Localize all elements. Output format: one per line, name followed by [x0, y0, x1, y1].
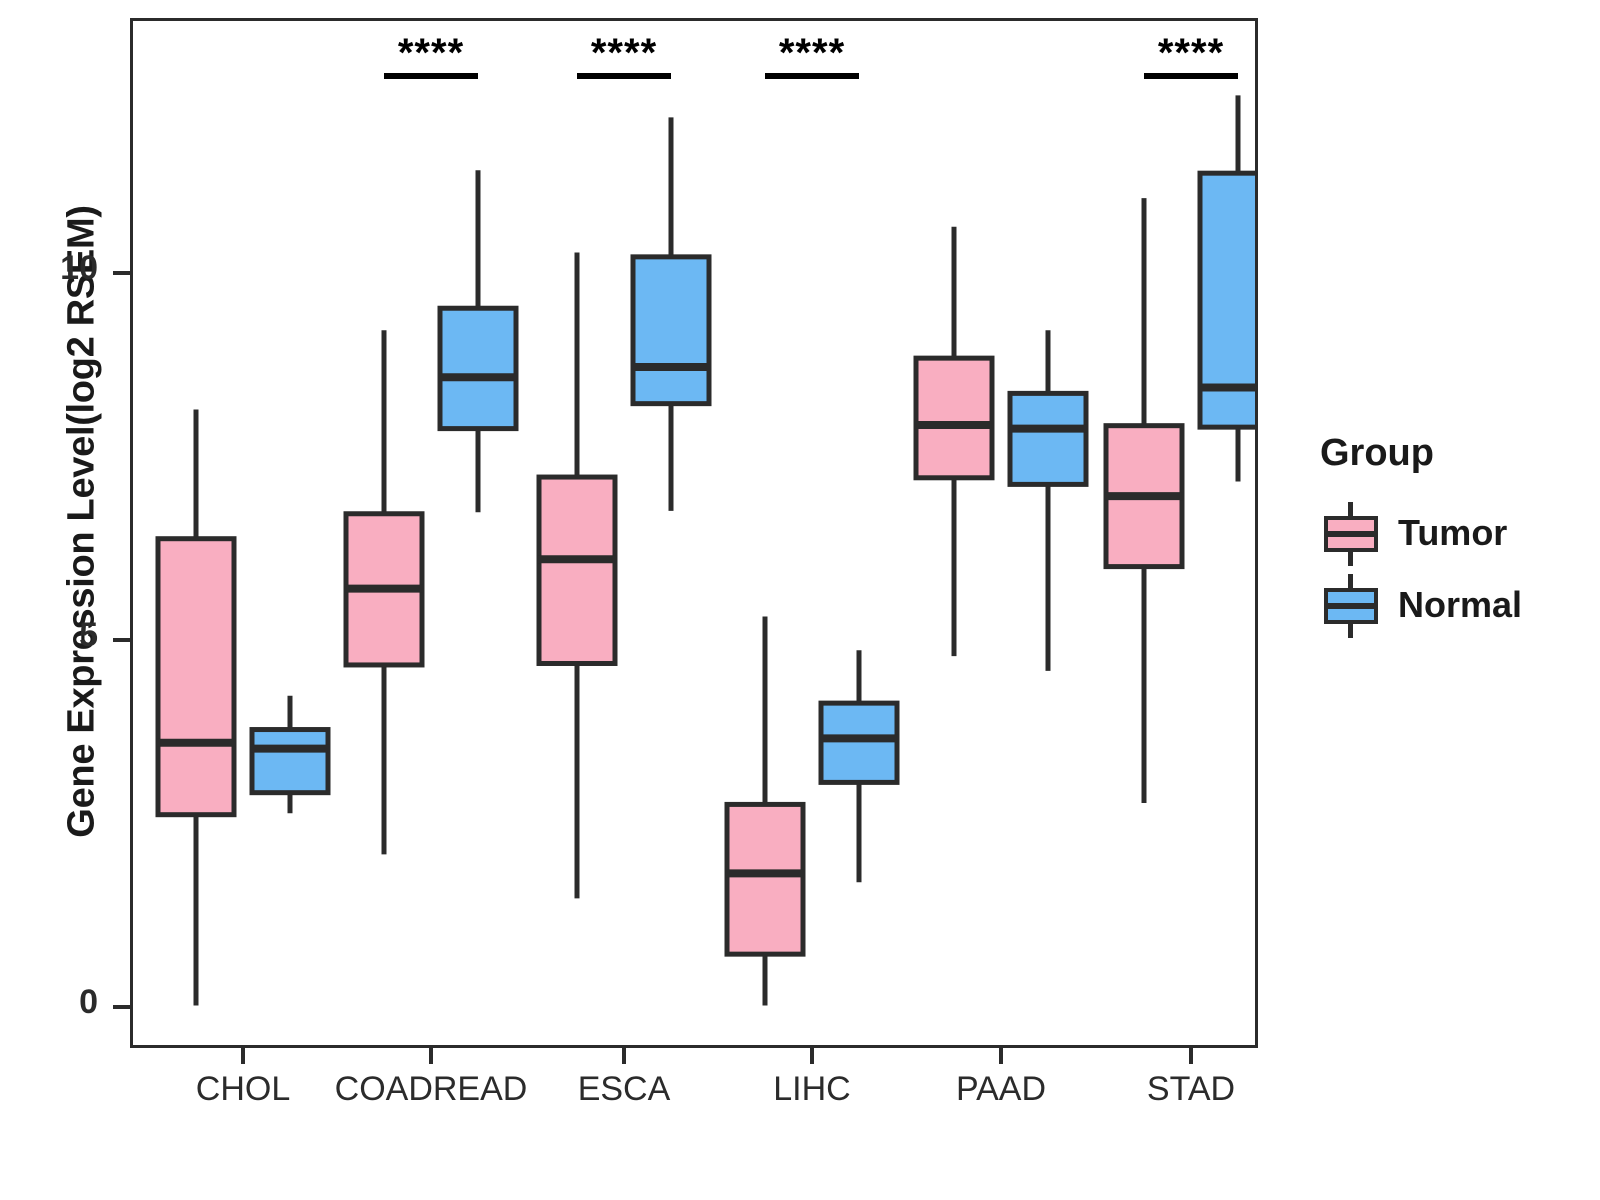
boxplot-lihc-tumor: [726, 617, 804, 1006]
x-tick-mark: [1189, 1048, 1193, 1064]
x-tick-label-stad: STAD: [1147, 1070, 1235, 1109]
box-rect: [633, 257, 709, 404]
y-tick-mark: [113, 638, 130, 642]
boxplot-chol-tumor: [157, 410, 235, 1006]
boxplot-stad-tumor: [1105, 198, 1183, 803]
x-tick-label-coadread: COADREAD: [335, 1070, 528, 1109]
box-rect: [1010, 393, 1086, 484]
x-tick-mark: [241, 1048, 245, 1064]
legend-entries: TumorNormal: [1320, 497, 1590, 641]
boxplot-canvas: [133, 21, 1255, 1045]
plot-panel: [130, 18, 1258, 1048]
boxplot-chol-normal: [251, 696, 329, 813]
x-tick-label-lihc: LIHC: [773, 1070, 850, 1109]
chart-root: Gene Expression Level(log2 RSEM) 0510 CH…: [0, 0, 1600, 1200]
box-rect: [727, 804, 803, 954]
x-tick-label-esca: ESCA: [578, 1070, 671, 1109]
boxplot-coadread-normal: [439, 170, 517, 512]
legend: Group TumorNormal: [1320, 432, 1590, 641]
box-rect: [440, 308, 516, 428]
legend-key-tumor-icon: [1320, 502, 1382, 564]
boxplot-stad-normal: [1199, 95, 1255, 481]
significance-label-lihc: ****: [779, 31, 845, 76]
y-tick-label: 0: [8, 983, 98, 1022]
box-rect: [821, 703, 897, 782]
boxplot-paad-normal: [1009, 330, 1087, 671]
x-tick-mark: [622, 1048, 626, 1064]
legend-key-normal-icon: [1320, 574, 1382, 636]
boxplot-esca-normal: [632, 117, 710, 510]
legend-item-tumor[interactable]: Tumor: [1320, 497, 1590, 569]
legend-title: Group: [1320, 432, 1590, 475]
x-tick-label-chol: CHOL: [196, 1070, 290, 1109]
box-rect: [158, 539, 234, 815]
x-tick-label-paad: PAAD: [956, 1070, 1046, 1109]
significance-label-stad: ****: [1158, 31, 1224, 76]
boxplot-paad-tumor: [915, 227, 993, 656]
boxplot-esca-tumor: [538, 252, 616, 898]
y-tick-mark: [113, 1005, 130, 1009]
x-tick-mark: [810, 1048, 814, 1064]
significance-label-esca: ****: [591, 31, 657, 76]
legend-label-tumor: Tumor: [1398, 512, 1507, 554]
boxplot-coadread-tumor: [345, 330, 423, 854]
x-tick-mark: [999, 1048, 1003, 1064]
y-tick-mark: [113, 271, 130, 275]
box-rect: [252, 730, 328, 793]
x-tick-mark: [429, 1048, 433, 1064]
box-rect: [916, 358, 992, 478]
y-tick-label: 10: [8, 249, 98, 288]
legend-item-normal[interactable]: Normal: [1320, 569, 1590, 641]
boxplot-lihc-normal: [820, 650, 898, 882]
box-rect: [539, 477, 615, 663]
legend-label-normal: Normal: [1398, 584, 1522, 626]
significance-label-coadread: ****: [398, 31, 464, 76]
y-tick-label: 5: [8, 616, 98, 655]
